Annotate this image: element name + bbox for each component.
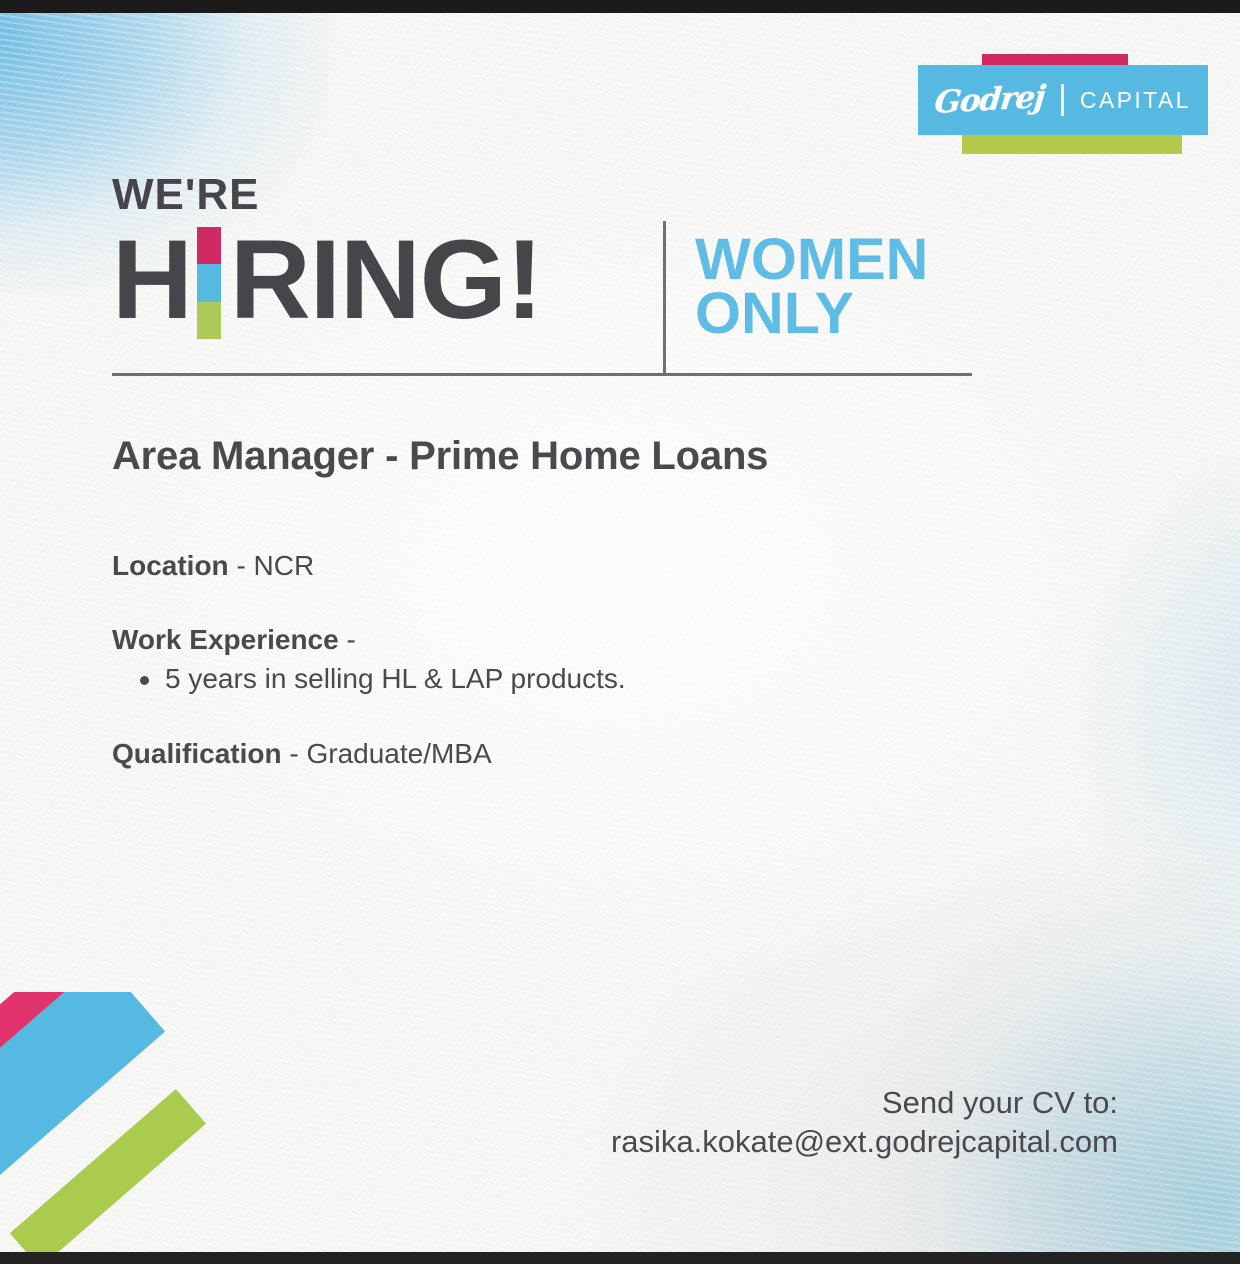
detail-work-experience: Work Experience -: [112, 623, 1012, 656]
tricolor-segment-blue: [197, 264, 221, 301]
headline-vertical-divider: [663, 221, 666, 376]
tricolor-segment-pink: [197, 227, 221, 264]
letterbox-bar-top: [0, 0, 1240, 13]
send-cv-label: Send your CV to:: [611, 1083, 1118, 1123]
headline-horizontal-rule: [112, 373, 972, 376]
logo-divider-icon: |: [1058, 81, 1067, 115]
tricolor-segment-green: [197, 302, 221, 339]
edge-glow-right: [1060, 443, 1240, 963]
headline-were: WE'RE: [112, 173, 542, 217]
send-cv-block: Send your CV to: rasika.kokate@ext.godre…: [611, 1083, 1118, 1162]
women-only-line-1: WOMEN: [695, 233, 928, 287]
detail-qualification: Qualification - Graduate/MBA: [112, 737, 1012, 770]
tricolor-i-bar-icon: [197, 227, 221, 339]
list-item: 5 years in selling HL & LAP products.: [112, 662, 1012, 696]
logo-plate: Godrej | CAPITAL: [918, 65, 1208, 135]
detail-work-experience-label: Work Experience: [112, 624, 339, 655]
godrej-capital-logo: Godrej | CAPITAL: [918, 48, 1218, 158]
detail-location-value: - NCR: [229, 550, 315, 581]
headline-hiring: H RING!: [112, 221, 542, 339]
detail-qualification-value: - Graduate/MBA: [282, 738, 492, 769]
letterbox-bar-bottom: [0, 1252, 1240, 1264]
job-details: Location - NCR Work Experience - 5 years…: [112, 549, 1012, 811]
women-only-badge: WOMEN ONLY: [695, 233, 928, 341]
detail-location-label: Location: [112, 550, 229, 581]
logo-wordmark-capital: CAPITAL: [1080, 87, 1191, 114]
work-experience-bullet-list: 5 years in selling HL & LAP products.: [112, 662, 1012, 696]
women-only-line-2: ONLY: [695, 287, 928, 341]
detail-location: Location - NCR: [112, 549, 1012, 582]
send-cv-email[interactable]: rasika.kokate@ext.godrejcapital.com: [611, 1122, 1118, 1162]
job-title: Area Manager - Prime Home Loans: [112, 434, 768, 479]
detail-qualification-label: Qualification: [112, 738, 282, 769]
headline-hiring-row: H RING!: [112, 221, 542, 339]
job-posting-poster: Godrej | CAPITAL WE'RE H RING!: [0, 0, 1240, 1264]
detail-work-experience-value: -: [339, 624, 356, 655]
headline-group: WE'RE H RING! WOMEN ONLY: [112, 173, 542, 339]
corner-accent-bars: [0, 992, 330, 1252]
logo-wordmark-godrej: Godrej: [933, 79, 1046, 121]
headline-hiring-prefix: H: [112, 228, 192, 331]
poster-canvas: Godrej | CAPITAL WE'RE H RING!: [0, 13, 1240, 1252]
headline-hiring-suffix: RING!: [230, 228, 542, 331]
